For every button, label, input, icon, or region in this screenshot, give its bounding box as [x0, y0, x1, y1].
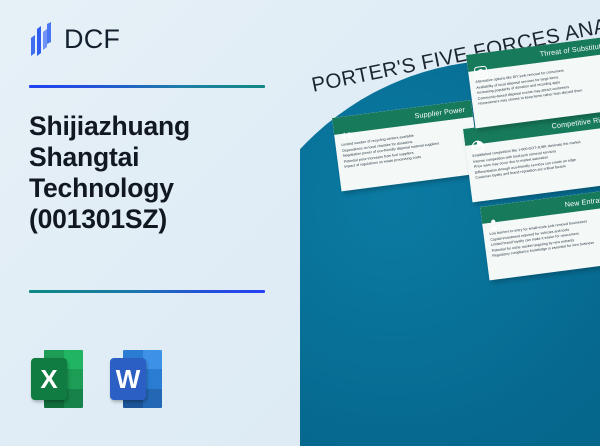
- divider-bottom: [29, 290, 265, 293]
- handshake-link-icon: [339, 127, 356, 144]
- file-format-icons: X W: [31, 350, 162, 408]
- word-file-icon[interactable]: W: [110, 350, 162, 408]
- brand-logo[interactable]: DCF: [29, 22, 120, 56]
- refresh-circle-icon: [473, 64, 490, 81]
- brand-name: DCF: [64, 26, 120, 53]
- page-title: Shijiazhuang Shangtai Technology (001301…: [29, 111, 279, 235]
- bar-chart-logo-icon: [29, 22, 55, 56]
- pie-clock-icon: [470, 138, 487, 155]
- excel-badge-letter: X: [31, 358, 67, 400]
- excel-file-icon[interactable]: X: [31, 350, 83, 408]
- divider-top: [29, 85, 265, 88]
- page-canvas: PORTER'S FIVE FORCES ANALYSIS Supplier P…: [0, 0, 600, 446]
- porters-five-forces-artwork: PORTER'S FIVE FORCES ANALYSIS Supplier P…: [300, 0, 600, 446]
- card-title: Supplier Power: [414, 105, 466, 120]
- person-add-icon: [487, 216, 504, 233]
- word-badge-letter: W: [110, 358, 146, 400]
